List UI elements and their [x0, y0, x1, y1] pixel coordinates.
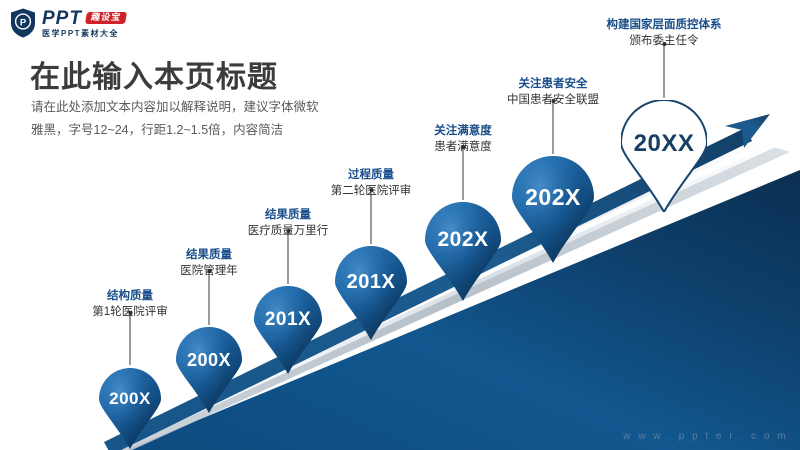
- timeline-step-caption: 颁布委主任令: [607, 34, 722, 50]
- page-title: 在此输入本页标题: [30, 52, 278, 96]
- map-pin-icon[interactable]: 202X: [425, 202, 501, 301]
- timeline-step-label: 过程质量第二轮医院评审: [331, 168, 412, 199]
- timeline-step-title: 关注满意度: [434, 124, 492, 140]
- logo-tagline: 医学PPT素材大全: [42, 30, 126, 38]
- map-pin-icon[interactable]: 200X: [176, 327, 242, 413]
- map-pin-icon[interactable]: 201X: [335, 246, 407, 340]
- map-pin-icon[interactable]: 200X: [99, 368, 161, 449]
- timeline-step-year: 200X: [187, 350, 231, 371]
- map-pin-icon[interactable]: 201X: [254, 286, 322, 374]
- timeline-step-title: 过程质量: [331, 168, 412, 184]
- timeline-step-label: 关注患者安全中国患者安全联盟: [507, 77, 599, 108]
- timeline-step-caption: 中国患者安全联盟: [507, 93, 599, 109]
- brand-logo[interactable]: P PPT 趣设宝 医学PPT素材大全: [10, 6, 126, 40]
- logo-primary-row: PPT 趣设宝: [42, 9, 126, 28]
- site-watermark: w w w . p p t e r . c o m: [623, 431, 788, 442]
- timeline-step-year: 202X: [525, 184, 581, 211]
- logo-text-block: PPT 趣设宝 医学PPT素材大全: [42, 9, 126, 38]
- timeline-step-year: 201X: [347, 271, 396, 294]
- timeline-step-year: 202X: [437, 228, 488, 252]
- timeline-step-title: 结果质量: [248, 208, 329, 224]
- page-subtitle-line-2: 雅黑，字号12~24，行距1.2~1.5倍，内容简洁: [31, 119, 391, 142]
- timeline-step-caption: 患者满意度: [434, 140, 492, 156]
- shield-icon: P: [10, 8, 36, 38]
- timeline-step-caption: 第二轮医院评审: [331, 184, 412, 200]
- timeline-step-year: 20XX: [634, 130, 695, 158]
- timeline-step-year: 201X: [265, 309, 311, 331]
- map-pin-icon[interactable]: 202X: [512, 156, 594, 263]
- timeline-step-caption: 医院管理年: [180, 264, 238, 280]
- timeline-step-label: 结果质量医疗质量万里行: [248, 208, 329, 239]
- timeline-step-title: 结果质量: [180, 248, 238, 264]
- slide-canvas: P PPT 趣设宝 医学PPT素材大全 在此输入本页标题 请在此处添加文本内容加…: [0, 0, 800, 450]
- shield-letter: P: [20, 17, 27, 28]
- timeline-step-title: 构建国家层面质控体系: [607, 18, 722, 34]
- timeline-step-label: 关注满意度患者满意度: [434, 124, 492, 155]
- timeline-step-year: 200X: [109, 389, 151, 409]
- timeline-step-title: 关注患者安全: [507, 77, 599, 93]
- timeline-step-label: 构建国家层面质控体系颁布委主任令: [607, 18, 722, 49]
- timeline-step-label: 结果质量医院管理年: [180, 248, 238, 279]
- logo-wordmark: PPT: [42, 9, 82, 28]
- logo-badge: 趣设宝: [85, 12, 127, 24]
- timeline-step-title: 结构质量: [92, 289, 167, 305]
- timeline-step-caption: 第1轮医院评审: [92, 305, 167, 321]
- timeline-step-caption: 医疗质量万里行: [248, 224, 329, 240]
- page-subtitle-line-1: 请在此处添加文本内容加以解释说明，建议字体微软: [31, 96, 391, 119]
- map-pin-outline-icon[interactable]: 20XX: [621, 100, 707, 212]
- timeline-step-label: 结构质量第1轮医院评审: [92, 289, 167, 320]
- page-subtitle: 请在此处添加文本内容加以解释说明，建议字体微软 雅黑，字号12~24，行距1.2…: [31, 96, 391, 142]
